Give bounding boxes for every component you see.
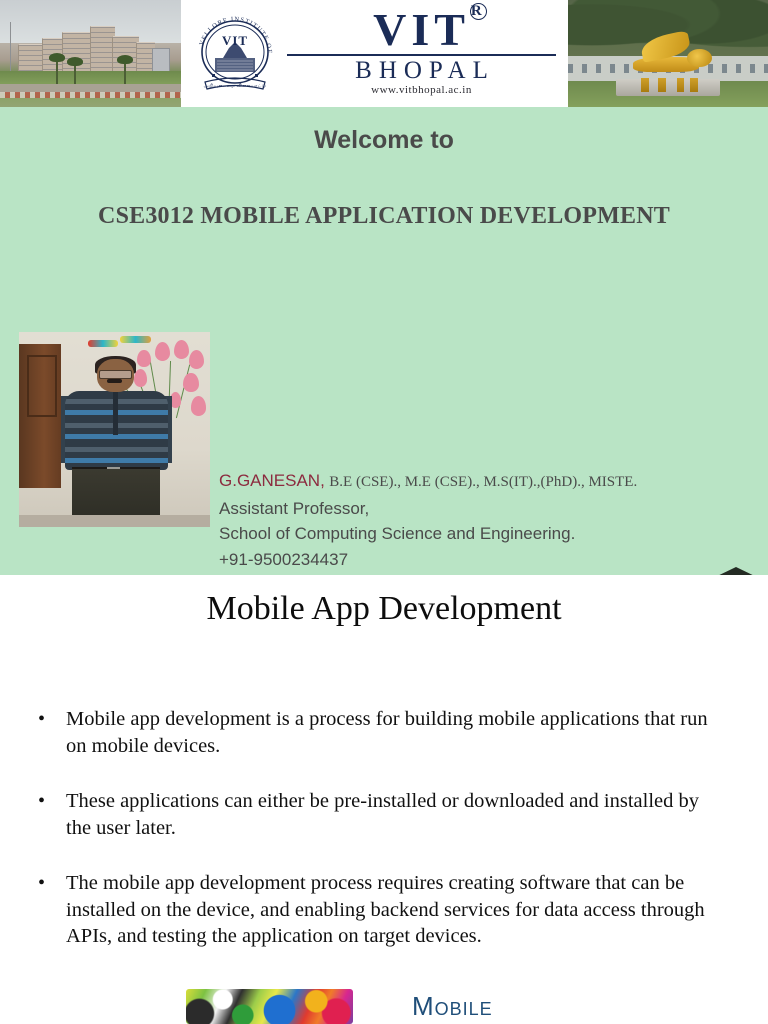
lion-leg: [641, 78, 649, 91]
lion-statue-photo: [568, 0, 768, 107]
list-item: • Mobile app development is a process fo…: [38, 706, 718, 759]
course-title: CSE3012 MOBILE APPLICATION DEVELOPMENT: [0, 203, 768, 230]
flower: [174, 340, 189, 360]
list-item: • These applications can either be pre-i…: [38, 788, 718, 841]
vit-wordmark: VIT R: [373, 7, 470, 53]
app-icons-collage-image: [186, 989, 353, 1024]
garland-decoration: [88, 340, 119, 347]
bullet-point-icon: •: [38, 788, 66, 841]
header-banner: VELLORE INSTITUTE OF TECHNOLOGY VIT அறிவ…: [0, 0, 768, 107]
palm-tree: [124, 60, 126, 84]
winged-lion-icon: [628, 35, 712, 80]
bullet-point-icon: •: [38, 706, 66, 759]
flower: [183, 373, 198, 393]
campus-photo: [0, 0, 181, 107]
bullet-point-icon: •: [38, 870, 66, 950]
presenter-name-line: G.GANESAN, B.E (CSE)., M.E (CSE)., M.S(I…: [219, 468, 739, 496]
flower: [134, 369, 147, 387]
name-separator: ,: [320, 471, 325, 490]
vit-logo-block: VELLORE INSTITUTE OF TECHNOLOGY VIT அறிவ…: [181, 0, 568, 107]
light-pole: [10, 22, 11, 74]
palm-tree: [74, 62, 76, 84]
registered-trademark-icon: R: [470, 3, 487, 20]
vit-seal-icon: VELLORE INSTITUTE OF TECHNOLOGY VIT அறிவ…: [193, 12, 277, 96]
floor: [19, 515, 210, 527]
next-slide-preview: Mobile: [0, 988, 768, 1024]
list-item-text: Mobile app development is a process for …: [66, 706, 718, 759]
presenter-phone: +91-9500234437: [219, 547, 739, 573]
list-item: • The mobile app development process req…: [38, 870, 718, 950]
vit-website: www.vitbhopal.ac.in: [283, 85, 560, 96]
welcome-heading: Welcome to: [0, 126, 768, 155]
lion-leg: [677, 78, 685, 91]
lion-head: [687, 49, 712, 67]
eyeglasses-icon: [99, 370, 132, 379]
moustache: [107, 379, 122, 384]
list-item-text: These applications can either be pre-ins…: [66, 788, 718, 841]
vit-wordmark-block: VIT R BHOPAL www.vitbhopal.ac.in: [283, 7, 560, 96]
palm-tree: [56, 58, 58, 84]
list-item-text: The mobile app development process requi…: [66, 870, 718, 950]
kerb: [0, 92, 181, 98]
vit-campus-name: BHOPAL: [283, 58, 560, 83]
lion-leg: [658, 78, 666, 91]
bullet-list: • Mobile app development is a process fo…: [38, 706, 718, 979]
presenter-degrees: B.E (CSE)., M.E (CSE)., M.S(IT).,(PhD).,…: [329, 474, 637, 490]
statue-pedestal: [616, 79, 720, 96]
flower: [155, 342, 170, 362]
presenter-name: G.GANESAN: [219, 471, 320, 490]
next-slide-heading: Mobile: [412, 991, 493, 1022]
garland-decoration: [120, 336, 151, 343]
flower: [191, 396, 206, 416]
presenter-school: School of Computing Science and Engineer…: [219, 521, 739, 547]
vit-wordmark-text: VIT: [373, 4, 470, 55]
flower: [137, 350, 150, 368]
presenter-photo: [19, 332, 210, 527]
lion-leg: [690, 78, 698, 91]
shirt-placket: [113, 392, 119, 435]
slide-heading: Mobile App Development: [0, 590, 768, 628]
svg-text:அறிவுடைமை விளையாட்டு: அறிவுடைமை விளையாட்டு: [204, 83, 267, 88]
presenter-designation: Assistant Professor,: [219, 496, 739, 522]
wooden-door: [19, 344, 61, 488]
content-slide: Mobile App Development • Mobile app deve…: [0, 575, 768, 1024]
title-slide: Welcome to CSE3012 MOBILE APPLICATION DE…: [0, 107, 768, 575]
